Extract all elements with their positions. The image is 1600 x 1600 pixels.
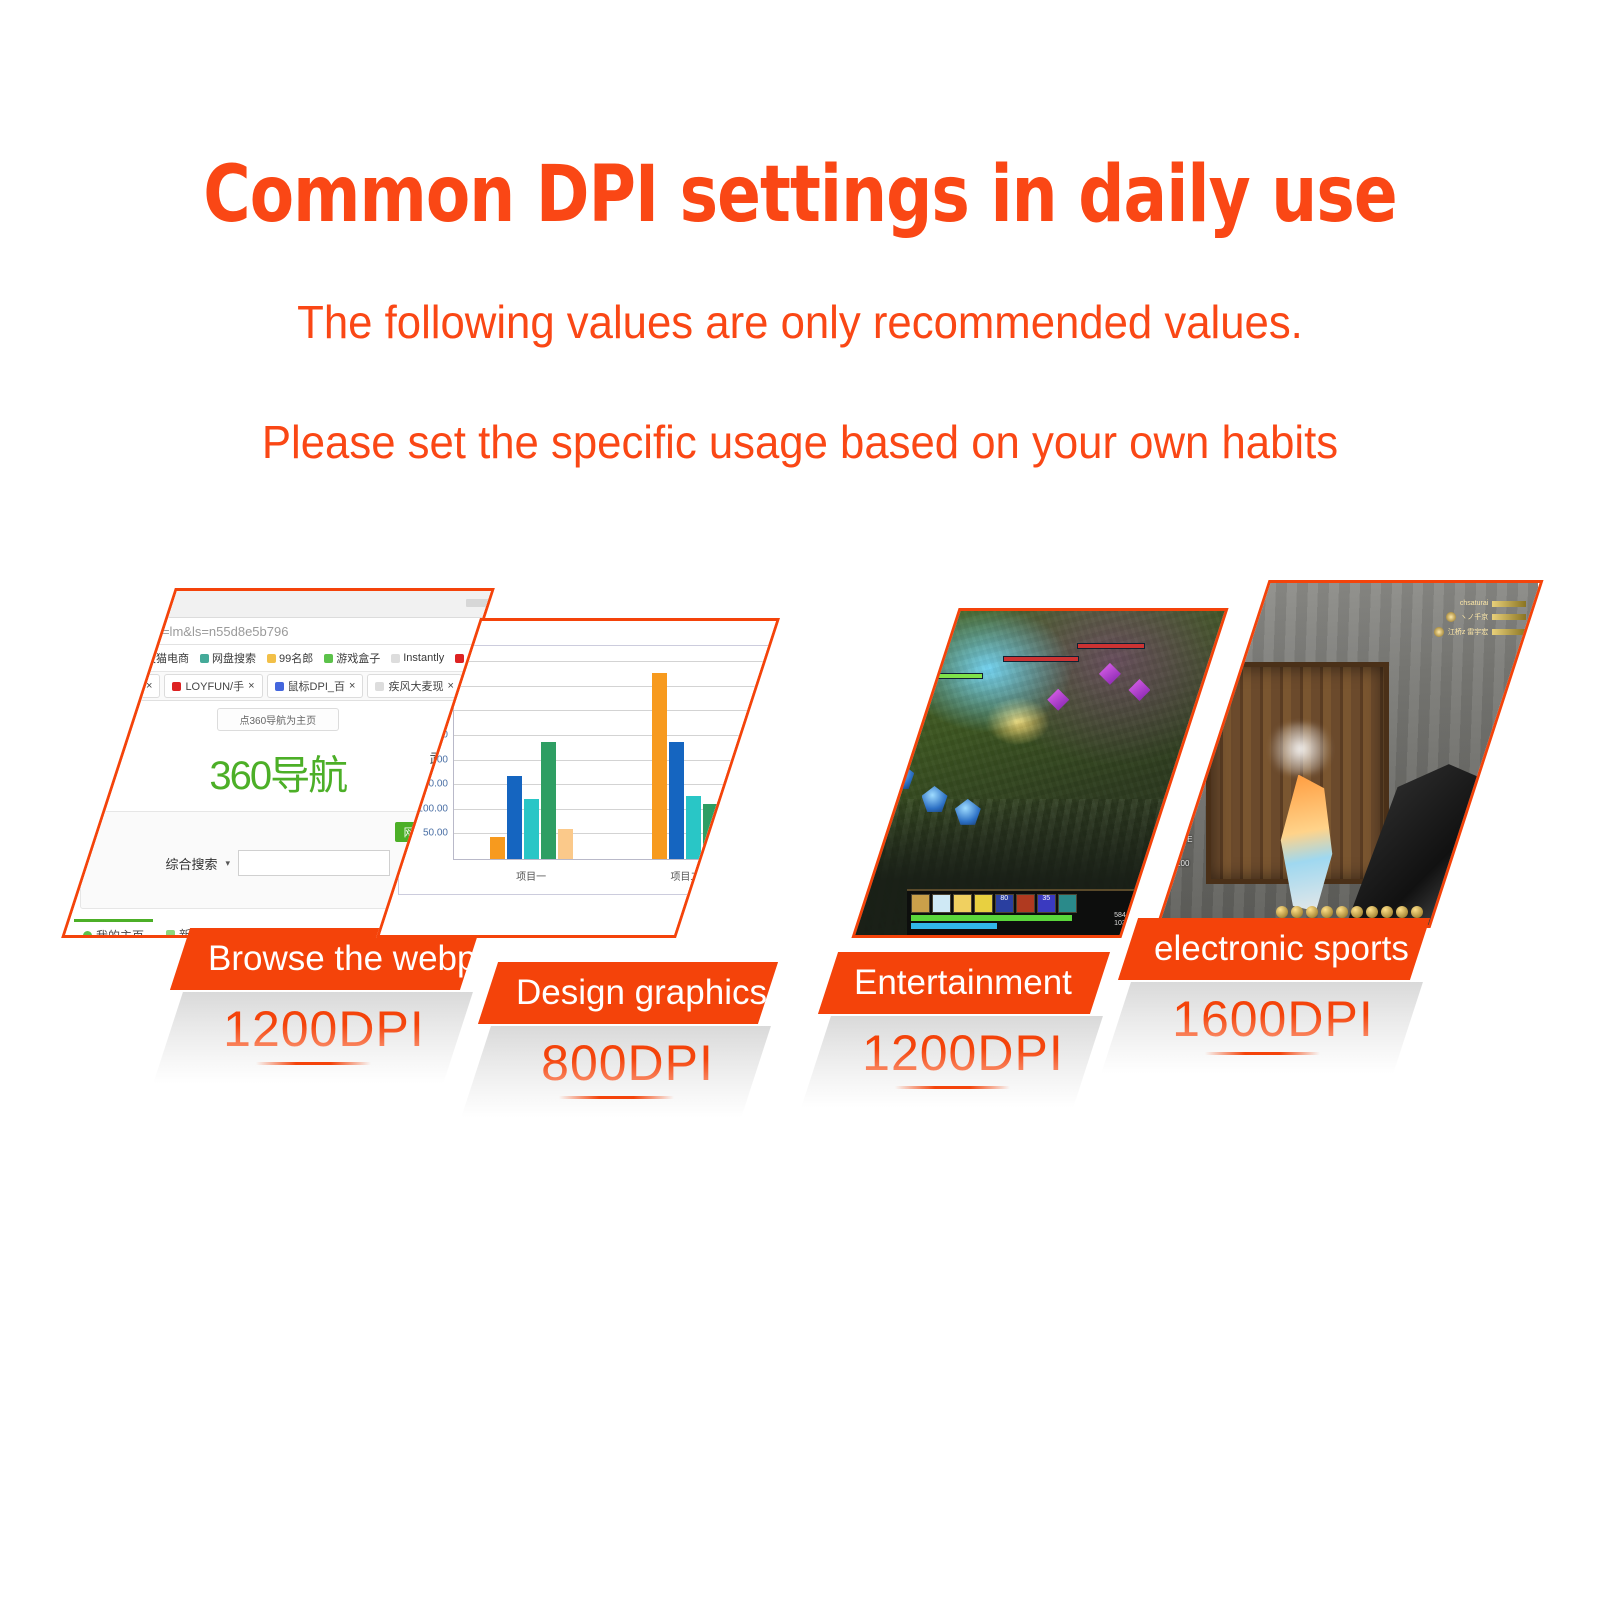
bookmark-item[interactable]: 99名郎 (267, 650, 313, 666)
close-icon[interactable]: × (349, 680, 355, 692)
caption-label: Entertainment (854, 963, 1072, 1003)
nav-tab-label: 我的主页 (96, 927, 144, 938)
bookmark-icon (66, 654, 75, 663)
bar-group: 项目一 (454, 662, 608, 859)
set-homepage-button[interactable]: 点360导航为主页 (217, 708, 339, 731)
bookmark-icon (133, 654, 142, 663)
bookmark-label: Instantly (403, 652, 444, 664)
health-bar (911, 915, 1072, 921)
weapon-icon (1493, 614, 1527, 620)
x-tick-label: 项目一 (454, 868, 608, 883)
player-icon (1276, 906, 1288, 918)
kill-feed: chsaturai ヽノ千京 江桥z 雷宇宏 (1434, 600, 1526, 637)
enemy-health-bar (1077, 643, 1146, 649)
player-icon (1321, 906, 1333, 918)
bookmark-label: 99名郎 (279, 650, 313, 666)
search-category-select[interactable]: 综合搜索 (166, 854, 218, 873)
bar (490, 837, 505, 859)
tab-label: 名片风云人 (87, 678, 142, 694)
player-icon (1336, 906, 1348, 918)
panel-reflection-esports (1101, 982, 1423, 1074)
player-icon (1396, 906, 1408, 918)
bookmark-label: 搜索引擎 (78, 650, 122, 666)
ability-slot[interactable]: 35 (1037, 894, 1056, 913)
close-icon[interactable]: × (248, 680, 254, 692)
bar-group: 项目二 (609, 662, 763, 859)
y-tick-label: 100.00 (418, 803, 449, 814)
bookmarks-bar: 搜索引擎 天猫电商 网盘搜索 99名郎 游戏盒子 Instantly (61, 645, 495, 672)
panel-reflection-entertainment (801, 1016, 1103, 1108)
ability-slot[interactable] (932, 894, 951, 913)
tab-label: 鼠标DPI_百 (288, 678, 345, 694)
bookmark-item[interactable]: 游戏盒子 (324, 650, 380, 666)
bookmark-icon (455, 654, 464, 663)
panel-caption-entertainment: Entertainment (818, 952, 1110, 1014)
kill-feed-row: 江桥z 雷宇宏 (1434, 627, 1526, 637)
ability-slot[interactable] (974, 894, 993, 913)
tab-favicon-icon (275, 682, 284, 691)
url-suffix: /?src=lm&ls=n55d8e5b796 (134, 624, 289, 639)
kill-feed-name: chsaturai (1460, 600, 1488, 607)
home-icon (83, 931, 92, 938)
bookmark-item[interactable]: 天猫电商 (133, 650, 189, 666)
subtitle-line-2: Please set the specific usage based on y… (40, 415, 1560, 469)
bookmark-label: 天猫电商 (145, 650, 189, 666)
ammo-primary: 0 (1176, 846, 1192, 858)
bookmark-icon (324, 654, 333, 663)
tab-label: 疾风大麦现 (389, 678, 444, 694)
news-icon (166, 930, 175, 939)
bar (558, 829, 573, 859)
browser-tab[interactable]: 鼠标DPI_百× (267, 674, 364, 698)
weapon-icon (1493, 629, 1527, 635)
tab-favicon-icon (376, 682, 385, 691)
search-input[interactable] (238, 850, 390, 876)
bookmark-icon (391, 654, 400, 663)
poster-root: Common DPI settings in daily use The fol… (0, 0, 1600, 1600)
bar (524, 799, 539, 859)
ability-slots: 80 35 (911, 894, 1199, 913)
panel-reflection-browse (153, 992, 473, 1084)
bar (704, 804, 719, 859)
url-prefix: hao. (68, 624, 93, 639)
caption-label: Browse the webpage (208, 939, 535, 979)
mana-bar (911, 923, 997, 929)
browser-address-bar[interactable]: hao.360.cn/?src=lm&ls=n55d8e5b796 (61, 618, 495, 645)
panel-caption-design: Design graphics (478, 962, 778, 1024)
bookmark-icon (200, 654, 209, 663)
player-icon (1306, 906, 1318, 918)
enemy-health-bar (1003, 656, 1079, 662)
ability-slot[interactable]: 80 (995, 894, 1014, 913)
bar (687, 796, 702, 859)
bookmark-item[interactable]: 网盘搜索 (200, 650, 256, 666)
browser-titlebar (61, 591, 495, 618)
bookmark-item[interactable]: Instantly (391, 652, 444, 664)
close-icon[interactable]: × (146, 680, 152, 692)
player-icon-tray (1191, 906, 1507, 918)
bar (670, 742, 685, 859)
browser-tabstrip: 名片风云人× LOYFUN/手× 鼠标DPI_百× 疾风大麦现× (61, 672, 495, 701)
ability-slot[interactable] (953, 894, 972, 913)
ability-slot[interactable] (1058, 894, 1077, 913)
player-icon (1381, 906, 1393, 918)
bookmark-label: 游戏盒子 (336, 650, 380, 666)
ability-slot[interactable] (1016, 894, 1035, 913)
kill-feed-row: ヽノ千京 (1447, 612, 1527, 622)
ability-slot[interactable] (911, 894, 930, 913)
player-icon (1351, 906, 1363, 918)
unit-health-bar (892, 673, 983, 679)
browser-tab[interactable]: LOYFUN/手× (165, 674, 263, 698)
chevron-down-icon[interactable]: ▾ (226, 858, 231, 869)
tab-favicon-icon (173, 682, 182, 691)
kill-feed-name: 江桥z 雷宇宏 (1448, 627, 1488, 637)
bookmark-icon (267, 654, 276, 663)
bookmark-label: 网盘搜索 (212, 650, 256, 666)
panel-reflection-design (461, 1026, 771, 1118)
browser-tab[interactable]: 疾风大麦现× (368, 674, 462, 698)
player-icon (1411, 906, 1423, 918)
url-domain: 360.cn (94, 624, 134, 639)
caption-label: electronic sports (1154, 929, 1409, 969)
player-icon (1291, 906, 1303, 918)
muzzle-flash-icon (1263, 723, 1338, 774)
chart-plot-area: 400.00 350.00 300.00 250.00 200.00 150.0… (453, 662, 763, 860)
panel-caption-esports: electronic sports (1118, 918, 1430, 980)
tab-label: LOYFUN/手 (186, 678, 245, 694)
ace-label: ACE (1176, 834, 1192, 846)
nav-tab-home[interactable]: 我的主页 (74, 919, 153, 938)
kill-feed-row: chsaturai (1460, 600, 1526, 607)
page-title: Common DPI settings in daily use (64, 150, 1536, 240)
bookmark-item[interactable]: 搜索引擎 (66, 650, 122, 666)
bookmark-item[interactable] (455, 654, 464, 663)
chart-bars: 项目一 项目二 (454, 662, 763, 859)
ammo-reserve: 100 (1176, 858, 1192, 870)
bar (507, 776, 522, 859)
browser-tab[interactable]: 名片风云人× (66, 674, 160, 698)
bar (541, 742, 556, 859)
player-icon (1366, 906, 1378, 918)
ammo-counter: ACE 0 100 (1176, 834, 1192, 870)
bar (653, 673, 668, 859)
caption-label: Design graphics (516, 973, 767, 1013)
rank-icon (1447, 612, 1457, 622)
x-tick-label: 项目二 (609, 868, 763, 883)
subtitle-line-1: The following values are only recommende… (40, 295, 1560, 349)
window-controls-icon[interactable] (466, 599, 492, 607)
rank-icon (1434, 627, 1444, 637)
kill-feed-name: ヽノ千京 (1461, 612, 1489, 622)
tab-favicon-icon (74, 682, 83, 691)
weapon-icon (1493, 601, 1527, 607)
y-tick-label: 50.00 (423, 828, 448, 839)
close-icon[interactable]: × (448, 680, 454, 692)
